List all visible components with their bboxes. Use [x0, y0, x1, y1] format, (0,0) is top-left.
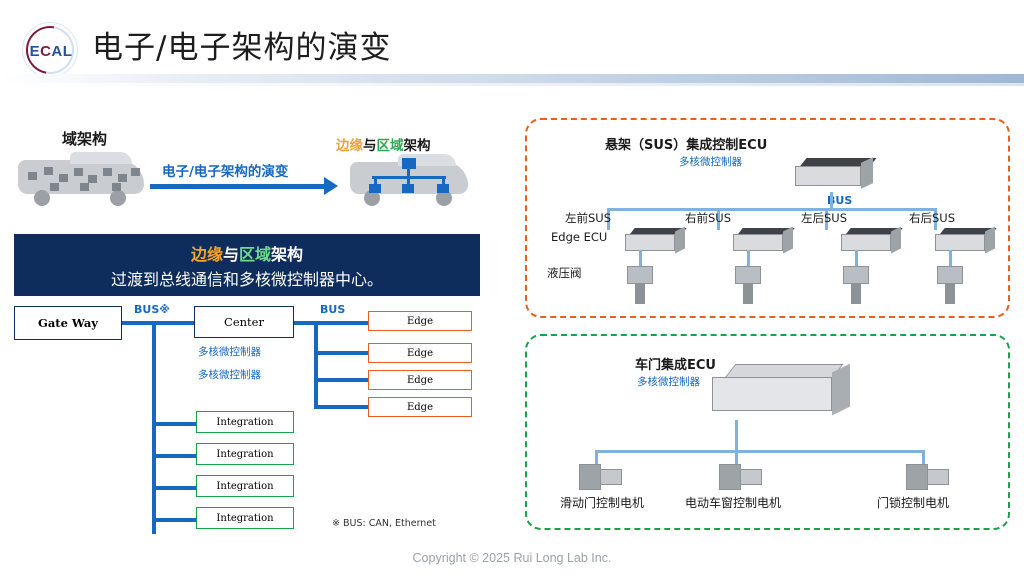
integration-label: Integration — [216, 449, 273, 460]
node-label-2: 右前SUS — [685, 210, 731, 226]
valve-body — [743, 284, 753, 304]
vehicle-zone-architecture — [350, 152, 468, 210]
page-title: 电子/电子架构的演变 — [92, 22, 391, 67]
gateway-label: Gate Way — [38, 316, 98, 330]
ecu-node — [28, 172, 37, 180]
copyright-text: Copyright © 2025 Rui Long Lab Inc. — [0, 551, 1024, 565]
door-bus-line — [595, 450, 925, 453]
edge-ecu-label: Edge ECU — [551, 230, 607, 244]
zone-ecu-node — [402, 184, 414, 193]
edge-ecu-4 — [935, 228, 997, 256]
ecu-side-face — [832, 364, 850, 416]
door-ecu-panel: 车门集成ECU 多核微控制器 滑动门控制电机 电动车窗控制电机 门锁控制电机 — [525, 334, 1010, 530]
summary-banner: 边缘与区域架构 过渡到总线通信和多核微控制器中心。 — [14, 234, 480, 296]
edge-label: Edge — [407, 348, 433, 359]
door-panel-subtitle: 多核微控制器 — [637, 374, 700, 389]
edge-trunk-wire — [314, 321, 318, 408]
edge-ecu-2 — [733, 228, 795, 256]
ecu-node — [112, 183, 121, 191]
integration-label: Integration — [216, 481, 273, 492]
edge-branch-wire — [314, 378, 370, 382]
zone-ecu-node — [437, 184, 449, 193]
edge-box-1[interactable]: Edge — [368, 311, 472, 331]
integration-box-4[interactable]: Integration — [196, 507, 294, 529]
motor-shaft-housing — [927, 469, 949, 485]
gateway-to-center-wire — [122, 321, 194, 325]
ecu-node — [59, 174, 68, 182]
motor-label-2: 电动车窗控制电机 — [685, 494, 781, 511]
node-label-4: 右后SUS — [909, 210, 955, 226]
transition-arrow-label: 电子/电子架构的演变 — [162, 160, 288, 180]
ecu-node — [103, 168, 112, 176]
motor-body — [906, 464, 928, 490]
edge-zone-architecture-label: 边缘与区域架构 — [336, 134, 431, 154]
valve-body — [945, 284, 955, 304]
ecu-front-face — [841, 234, 891, 251]
transition-arrow-head-icon — [324, 177, 338, 195]
ecu-side-face — [675, 227, 685, 254]
motor-label-1: 滑动门控制电机 — [560, 494, 644, 511]
edge-label: Edge — [407, 375, 433, 386]
edge-box-3[interactable]: Edge — [368, 370, 472, 390]
motor-body — [719, 464, 741, 490]
integration-label: Integration — [216, 417, 273, 428]
integration-label: Integration — [216, 513, 273, 524]
integration-box-3[interactable]: Integration — [196, 475, 294, 497]
center-box[interactable]: Center — [194, 306, 294, 338]
ecal-logo: ECAL — [22, 22, 78, 78]
ecu-node — [80, 183, 89, 191]
multicore-label-integration: 多核微控制器 — [198, 367, 261, 382]
edge-ecu-1 — [625, 228, 687, 256]
valve-body — [635, 284, 645, 304]
header-divider — [0, 74, 1024, 83]
banner-and-word: 与 — [223, 245, 239, 264]
logo-text: ECAL — [23, 23, 79, 79]
door-panel-title: 车门集成ECU — [635, 354, 716, 373]
valve-cap — [843, 266, 869, 284]
motor-shaft-housing — [740, 469, 762, 485]
edge-branch-wire — [314, 405, 370, 409]
valve-cap — [937, 266, 963, 284]
integration-box-1[interactable]: Integration — [196, 411, 294, 433]
ecu-side-face — [783, 227, 793, 254]
transition-arrow — [150, 184, 326, 189]
edge-box-2[interactable]: Edge — [368, 343, 472, 363]
bus-footnote: ※ BUS: CAN, Ethernet — [332, 518, 436, 529]
ecu-side-face — [985, 227, 995, 254]
valve-2 — [735, 266, 765, 304]
ecu-front-face — [712, 377, 832, 411]
header-divider-secondary — [0, 83, 1024, 86]
ecu-node — [44, 167, 53, 175]
suspension-panel-title: 悬架（SUS）集成控制ECU — [605, 134, 767, 153]
motor-shaft-housing — [600, 469, 622, 485]
vehicle-window — [70, 152, 132, 164]
logo-letter-a: A — [51, 43, 62, 60]
valve-1 — [627, 266, 657, 304]
motor-label-3: 门锁控制电机 — [877, 494, 949, 511]
integration-trunk-wire — [152, 321, 156, 534]
node-label-1: 左前SUS — [565, 210, 611, 226]
valve-cap — [627, 266, 653, 284]
ecu-node — [88, 175, 97, 183]
valve-3 — [843, 266, 873, 304]
door-ecu-drop-wire — [735, 420, 738, 452]
motor-1 — [579, 464, 627, 490]
door-central-ecu — [712, 364, 852, 420]
ecu-node — [50, 183, 59, 191]
edge-box-4[interactable]: Edge — [368, 397, 472, 417]
central-computer-node — [402, 158, 416, 169]
multicore-label-center: 多核微控制器 — [198, 344, 261, 359]
bus-label-center: BUS — [320, 303, 345, 316]
center-label: Center — [224, 315, 264, 329]
ecu-front-face — [935, 234, 985, 251]
edge-ecu-3 — [841, 228, 903, 256]
ecu-front-face — [795, 166, 861, 186]
hydraulic-valve-label: 液压阀 — [547, 265, 582, 281]
edge-branch-wire — [314, 351, 370, 355]
banner-zone-word: 区域 — [239, 245, 271, 264]
logo-letter-c: C — [40, 43, 51, 60]
vehicle-wheel — [34, 190, 50, 206]
ecu-top-face — [725, 364, 844, 378]
motor-2 — [719, 464, 767, 490]
suspension-ecu-panel: 悬架（SUS）集成控制ECU 多核微控制器 BUS 左前SUS 右前SUS 左后… — [525, 118, 1010, 318]
ecu-node — [118, 174, 127, 182]
valve-4 — [937, 266, 967, 304]
logo-letter-e: E — [30, 43, 41, 60]
gateway-box[interactable]: Gate Way — [14, 306, 122, 340]
zone-ecu-node — [369, 184, 381, 193]
banner-line-2: 过渡到总线通信和多核微控制器中心。 — [14, 266, 480, 290]
domain-architecture-label: 域架构 — [62, 128, 107, 149]
suspension-bus-line — [607, 208, 937, 211]
banner-edge-word: 边缘 — [191, 245, 223, 264]
motor-3 — [906, 464, 954, 490]
banner-arch-word: 架构 — [271, 245, 303, 264]
edge-label: Edge — [407, 402, 433, 413]
banner-line-1: 边缘与区域架构 — [14, 241, 480, 265]
ecu-side-face — [891, 227, 901, 254]
vehicle-domain-architecture — [18, 150, 144, 210]
valve-body — [851, 284, 861, 304]
ecu-front-face — [625, 234, 675, 251]
logo-letter-l: L — [63, 43, 73, 60]
edge-label: Edge — [407, 316, 433, 327]
vehicle-wheel — [110, 190, 126, 206]
edge-branch-wire — [314, 321, 370, 325]
suspension-panel-subtitle: 多核微控制器 — [679, 154, 742, 169]
ecu-node — [74, 168, 83, 176]
node-label-3: 左后SUS — [801, 210, 847, 226]
valve-cap — [735, 266, 761, 284]
integration-box-2[interactable]: Integration — [196, 443, 294, 465]
motor-body — [579, 464, 601, 490]
bus-label-gateway: BUS※ — [134, 303, 170, 316]
ecu-side-face — [861, 157, 873, 189]
suspension-central-ecu — [795, 158, 875, 192]
page-header: ECAL 电子/电子架构的演变 — [0, 0, 1024, 78]
ecu-node — [131, 168, 140, 176]
ecu-front-face — [733, 234, 783, 251]
